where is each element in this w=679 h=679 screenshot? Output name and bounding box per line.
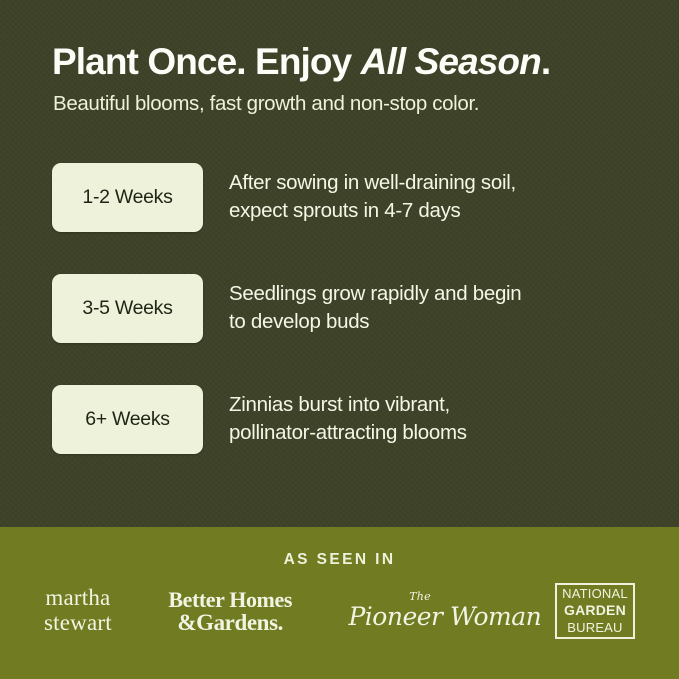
timeline-badge-label: 1-2 Weeks <box>82 186 172 209</box>
promo-poster: Plant Once. Enjoy All Season. Beautiful … <box>0 0 679 679</box>
page-title: Plant Once. Enjoy All Season. <box>40 0 639 81</box>
timeline-description-line1: Zinnias burst into vibrant, <box>229 393 450 416</box>
timeline-description-2: Seedlings grow rapidly and begin to deve… <box>229 280 521 336</box>
timeline-badge-2: 3-5 Weeks <box>52 274 203 343</box>
timeline-row: 1-2 Weeks After sowing in well-draining … <box>52 163 639 232</box>
timeline-description-line2: pollinator-attracting blooms <box>229 419 467 447</box>
timeline-description-line1: After sowing in well-draining soil, <box>229 171 516 194</box>
timeline-badge-3: 6+ Weeks <box>52 385 203 454</box>
press-logo-row: martha stewart Better Homes &Gardens. Th… <box>0 583 679 639</box>
timeline-row: 6+ Weeks Zinnias burst into vibrant, pol… <box>52 385 639 454</box>
bhg-logo-line2: &Gardens. <box>168 611 292 634</box>
timeline-description-3: Zinnias burst into vibrant, pollinator-a… <box>229 391 467 447</box>
timeline-badge-label: 6+ Weeks <box>85 408 170 431</box>
headline-suffix: . <box>541 41 550 82</box>
ngb-logo-line2: GARDEN <box>564 602 626 619</box>
timeline-description-line1: Seedlings grow rapidly and begin <box>229 282 521 305</box>
ngb-logo-line3: BUREAU <box>567 620 622 636</box>
as-seen-in-heading: AS SEEN IN <box>0 527 679 569</box>
national-garden-bureau-logo: NATIONAL GARDEN BUREAU <box>555 583 635 639</box>
headline-emphasis: All Season <box>361 41 541 82</box>
the-pioneer-woman-logo: The Pioneer Woman <box>348 593 498 629</box>
martha-stewart-logo-line2: stewart <box>44 611 112 636</box>
page-subtitle: Beautiful blooms, fast growth and non-st… <box>40 81 639 117</box>
timeline-description-1: After sowing in well-draining soil, expe… <box>229 169 516 225</box>
timeline-description-line2: expect sprouts in 4-7 days <box>229 197 516 225</box>
press-section: AS SEEN IN martha stewart Better Homes &… <box>0 527 679 679</box>
ngb-logo-line1: NATIONAL <box>562 586 628 602</box>
timeline-description-line2: to develop buds <box>229 308 521 336</box>
martha-stewart-logo: martha stewart <box>44 586 112 636</box>
hero-section: Plant Once. Enjoy All Season. Beautiful … <box>0 0 679 527</box>
bhg-logo-line1: Better Homes <box>168 589 292 611</box>
pioneer-woman-logo-the: The <box>409 591 431 602</box>
martha-stewart-logo-line1: martha <box>44 586 112 611</box>
timeline-badge-1: 1-2 Weeks <box>52 163 203 232</box>
headline-prefix: Plant Once. Enjoy <box>52 41 361 82</box>
better-homes-and-gardens-logo: Better Homes &Gardens. <box>168 589 292 634</box>
timeline-row: 3-5 Weeks Seedlings grow rapidly and beg… <box>52 274 639 343</box>
timeline-badge-label: 3-5 Weeks <box>82 297 172 320</box>
growth-timeline: 1-2 Weeks After sowing in well-draining … <box>40 163 639 454</box>
